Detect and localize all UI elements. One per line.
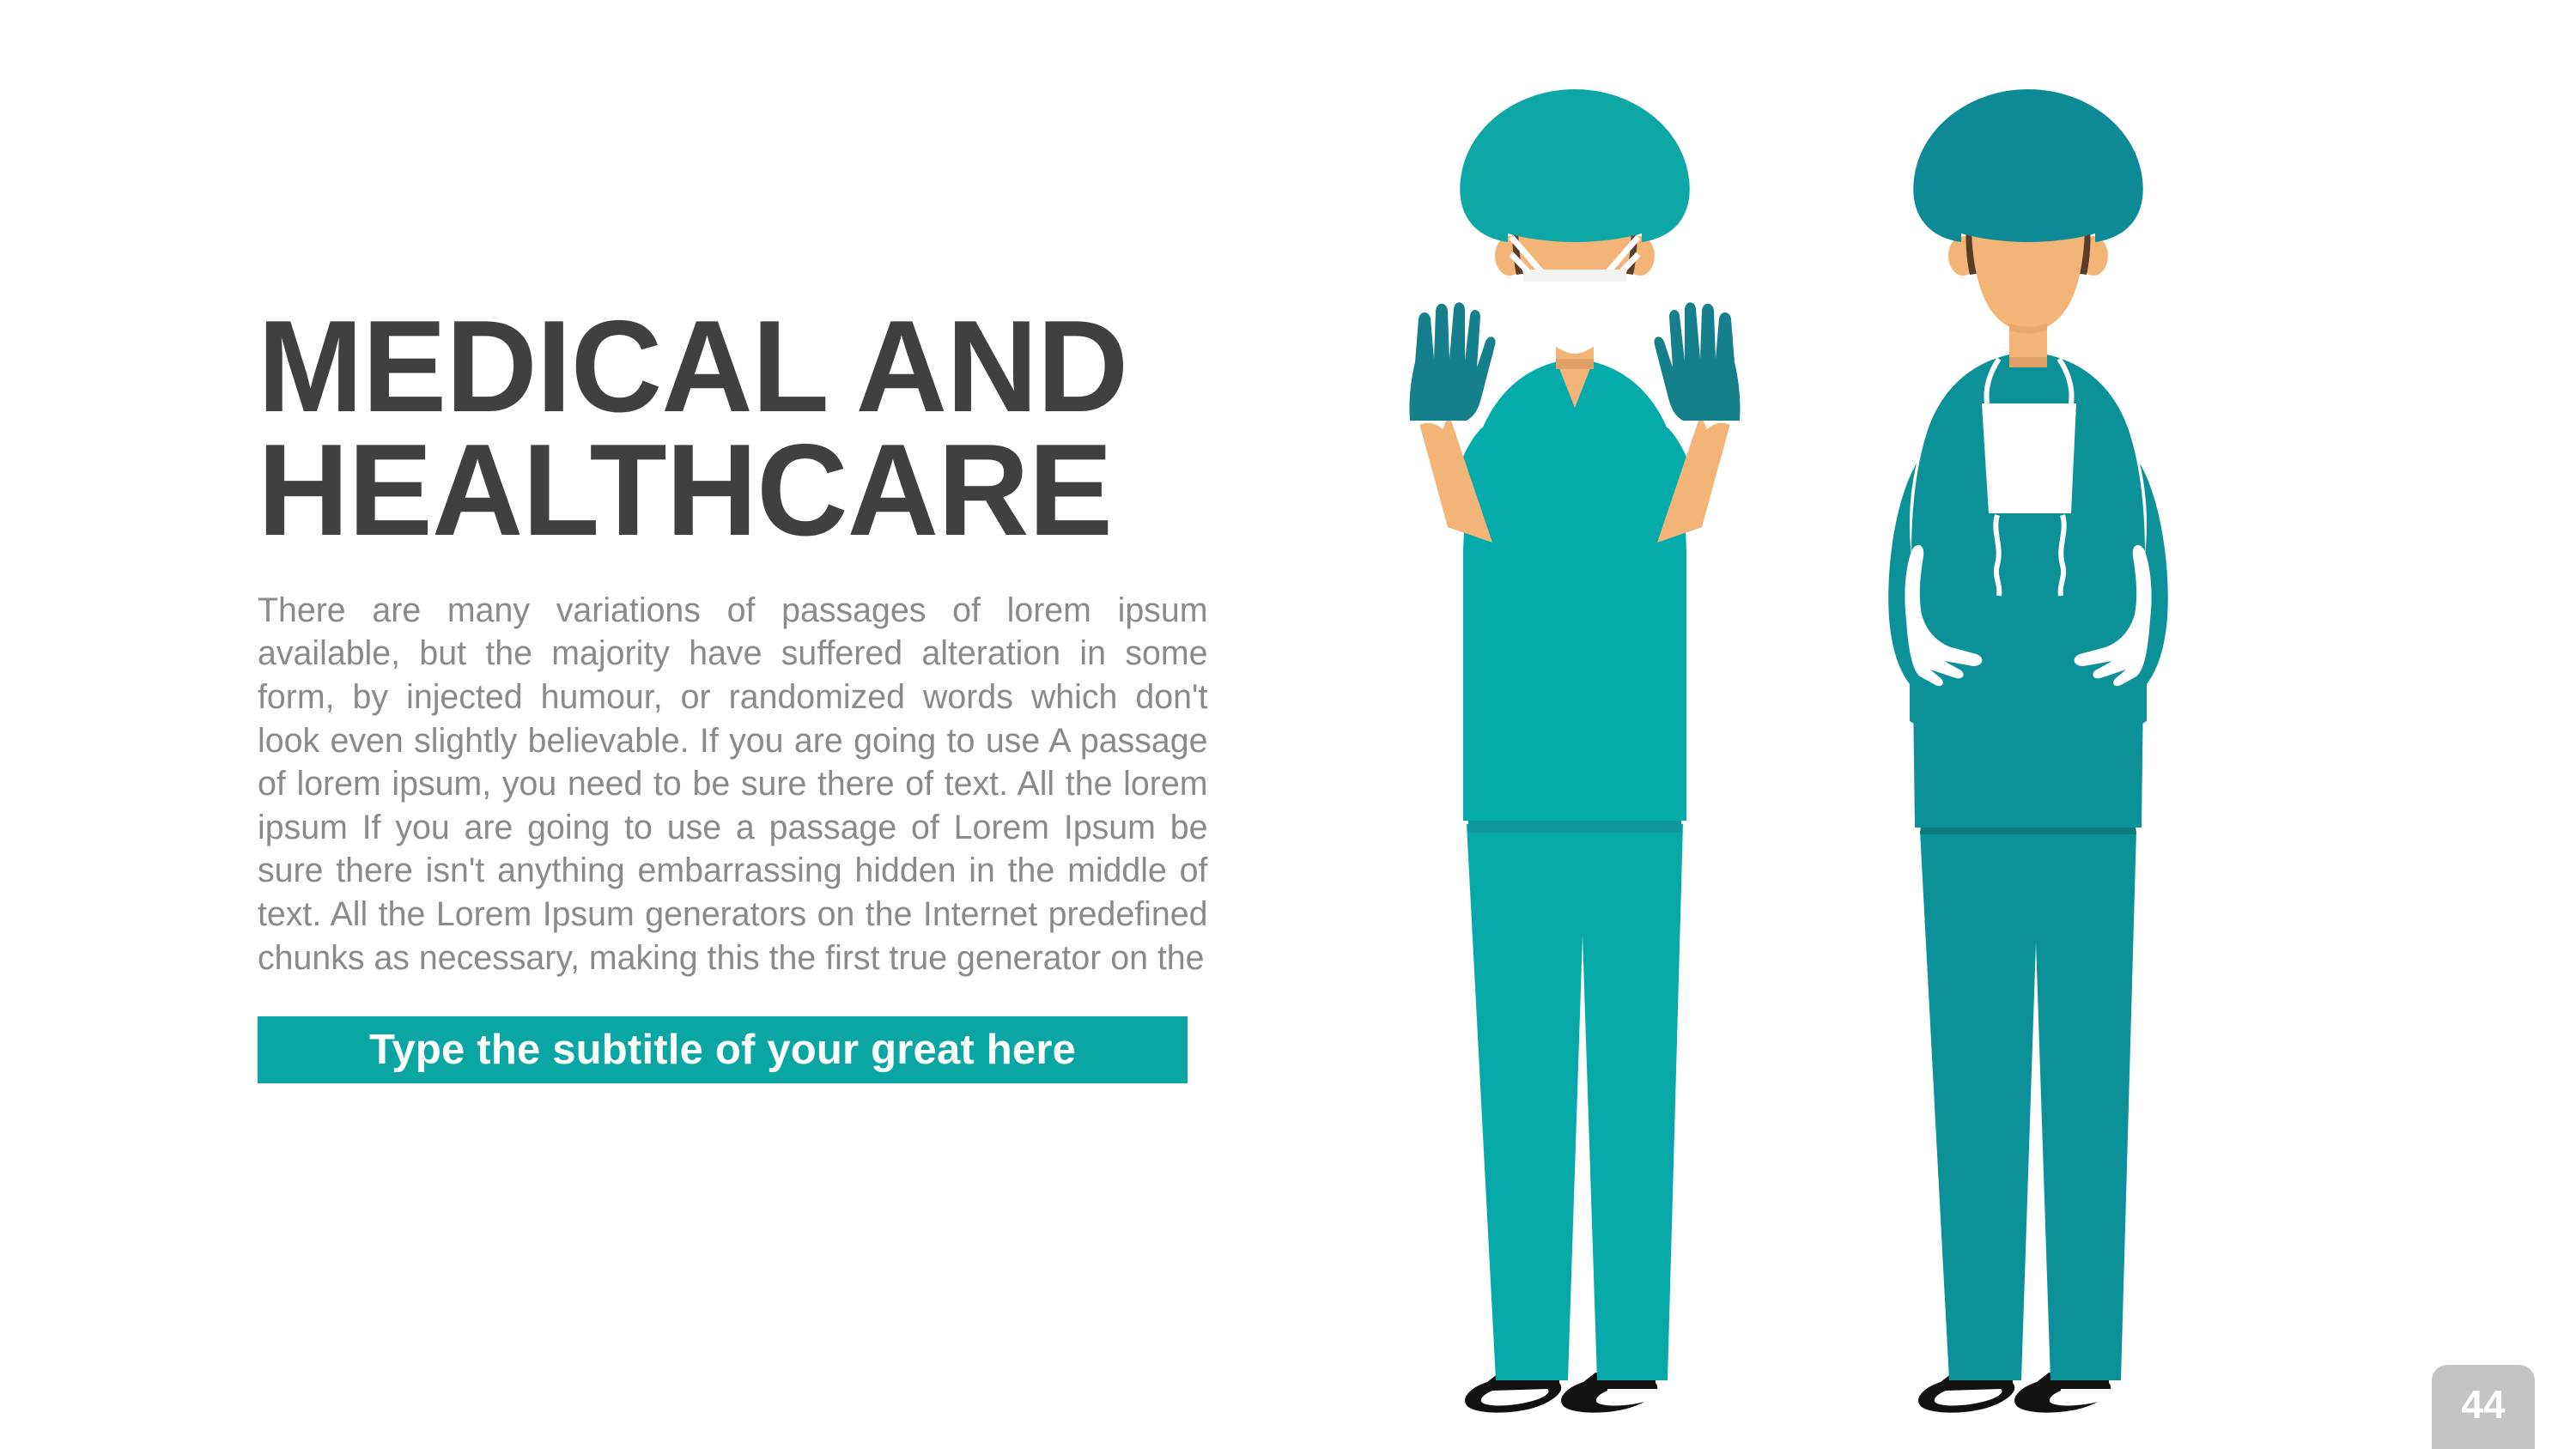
subtitle-button[interactable]: Type the subtitle of your great here [258,1016,1188,1083]
surgeon2-pants [1920,831,2136,1380]
surgeon1-left-glove-icon [1409,302,1495,421]
surgeon1-right-glove-icon [1654,302,1740,421]
page-title: MEDICAL AND HEALTHCARE [258,305,1187,553]
two-surgeons-illustration [1340,69,2310,1449]
body-paragraph: There are many variations of passages of… [258,589,1207,979]
text-content-column: MEDICAL AND HEALTHCARE There are many va… [258,305,1215,1083]
surgeon-hands-raised-figure [1409,89,1740,1413]
surgeon1-scrub-top [1448,359,1702,821]
surgeon2-surgical-cap [1913,89,2142,242]
surgeon-arms-crossed-figure [1888,89,2168,1413]
surgeon1-pants [1467,824,1683,1380]
surgeon1-surgical-cap [1460,89,1689,242]
subtitle-button-label: Type the subtitle of your great here [369,1026,1076,1074]
page-number-badge: 44 [2432,1365,2535,1449]
page-number-value: 44 [2461,1381,2505,1428]
slide-canvas: MEDICAL AND HEALTHCARE There are many va… [0,0,2576,1449]
